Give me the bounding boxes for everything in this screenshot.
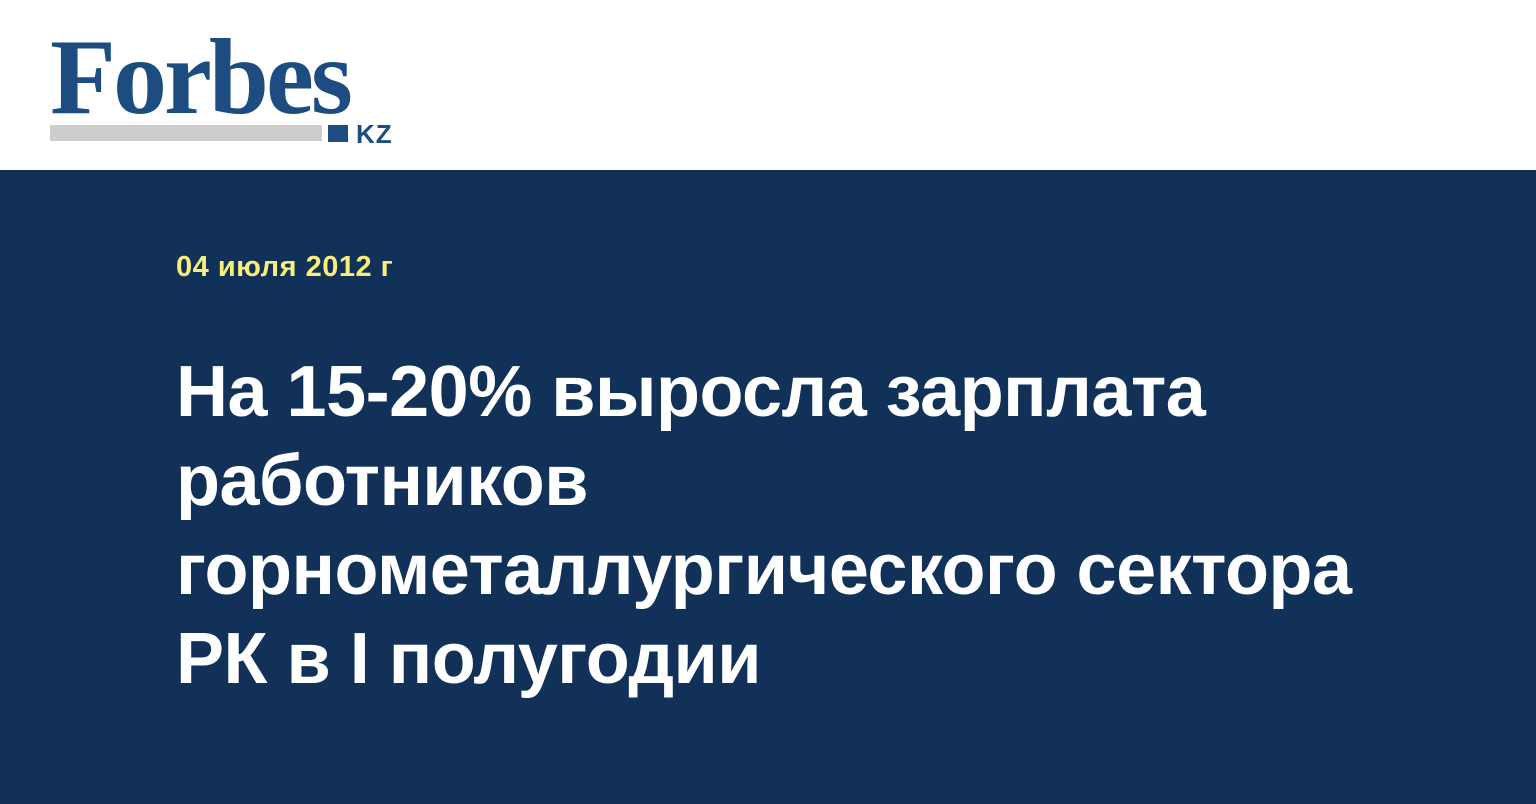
logo-wordmark: Forbes [50, 24, 350, 132]
article-hero-page: Forbes KZ 04 июля 2012 г На 15-20% вырос… [0, 0, 1536, 804]
logo-underline-rule [50, 125, 322, 141]
article-hero: 04 июля 2012 г На 15-20% выросла зарплат… [0, 170, 1536, 804]
logo-country-suffix: KZ [356, 121, 393, 147]
article-date: 04 июля 2012 г [176, 253, 393, 282]
article-title: На 15-20% выросла зарплата работников го… [176, 348, 1366, 704]
blue-square-icon [328, 125, 348, 142]
site-header: Forbes KZ [0, 0, 1536, 170]
site-logo[interactable]: Forbes KZ [50, 24, 410, 146]
